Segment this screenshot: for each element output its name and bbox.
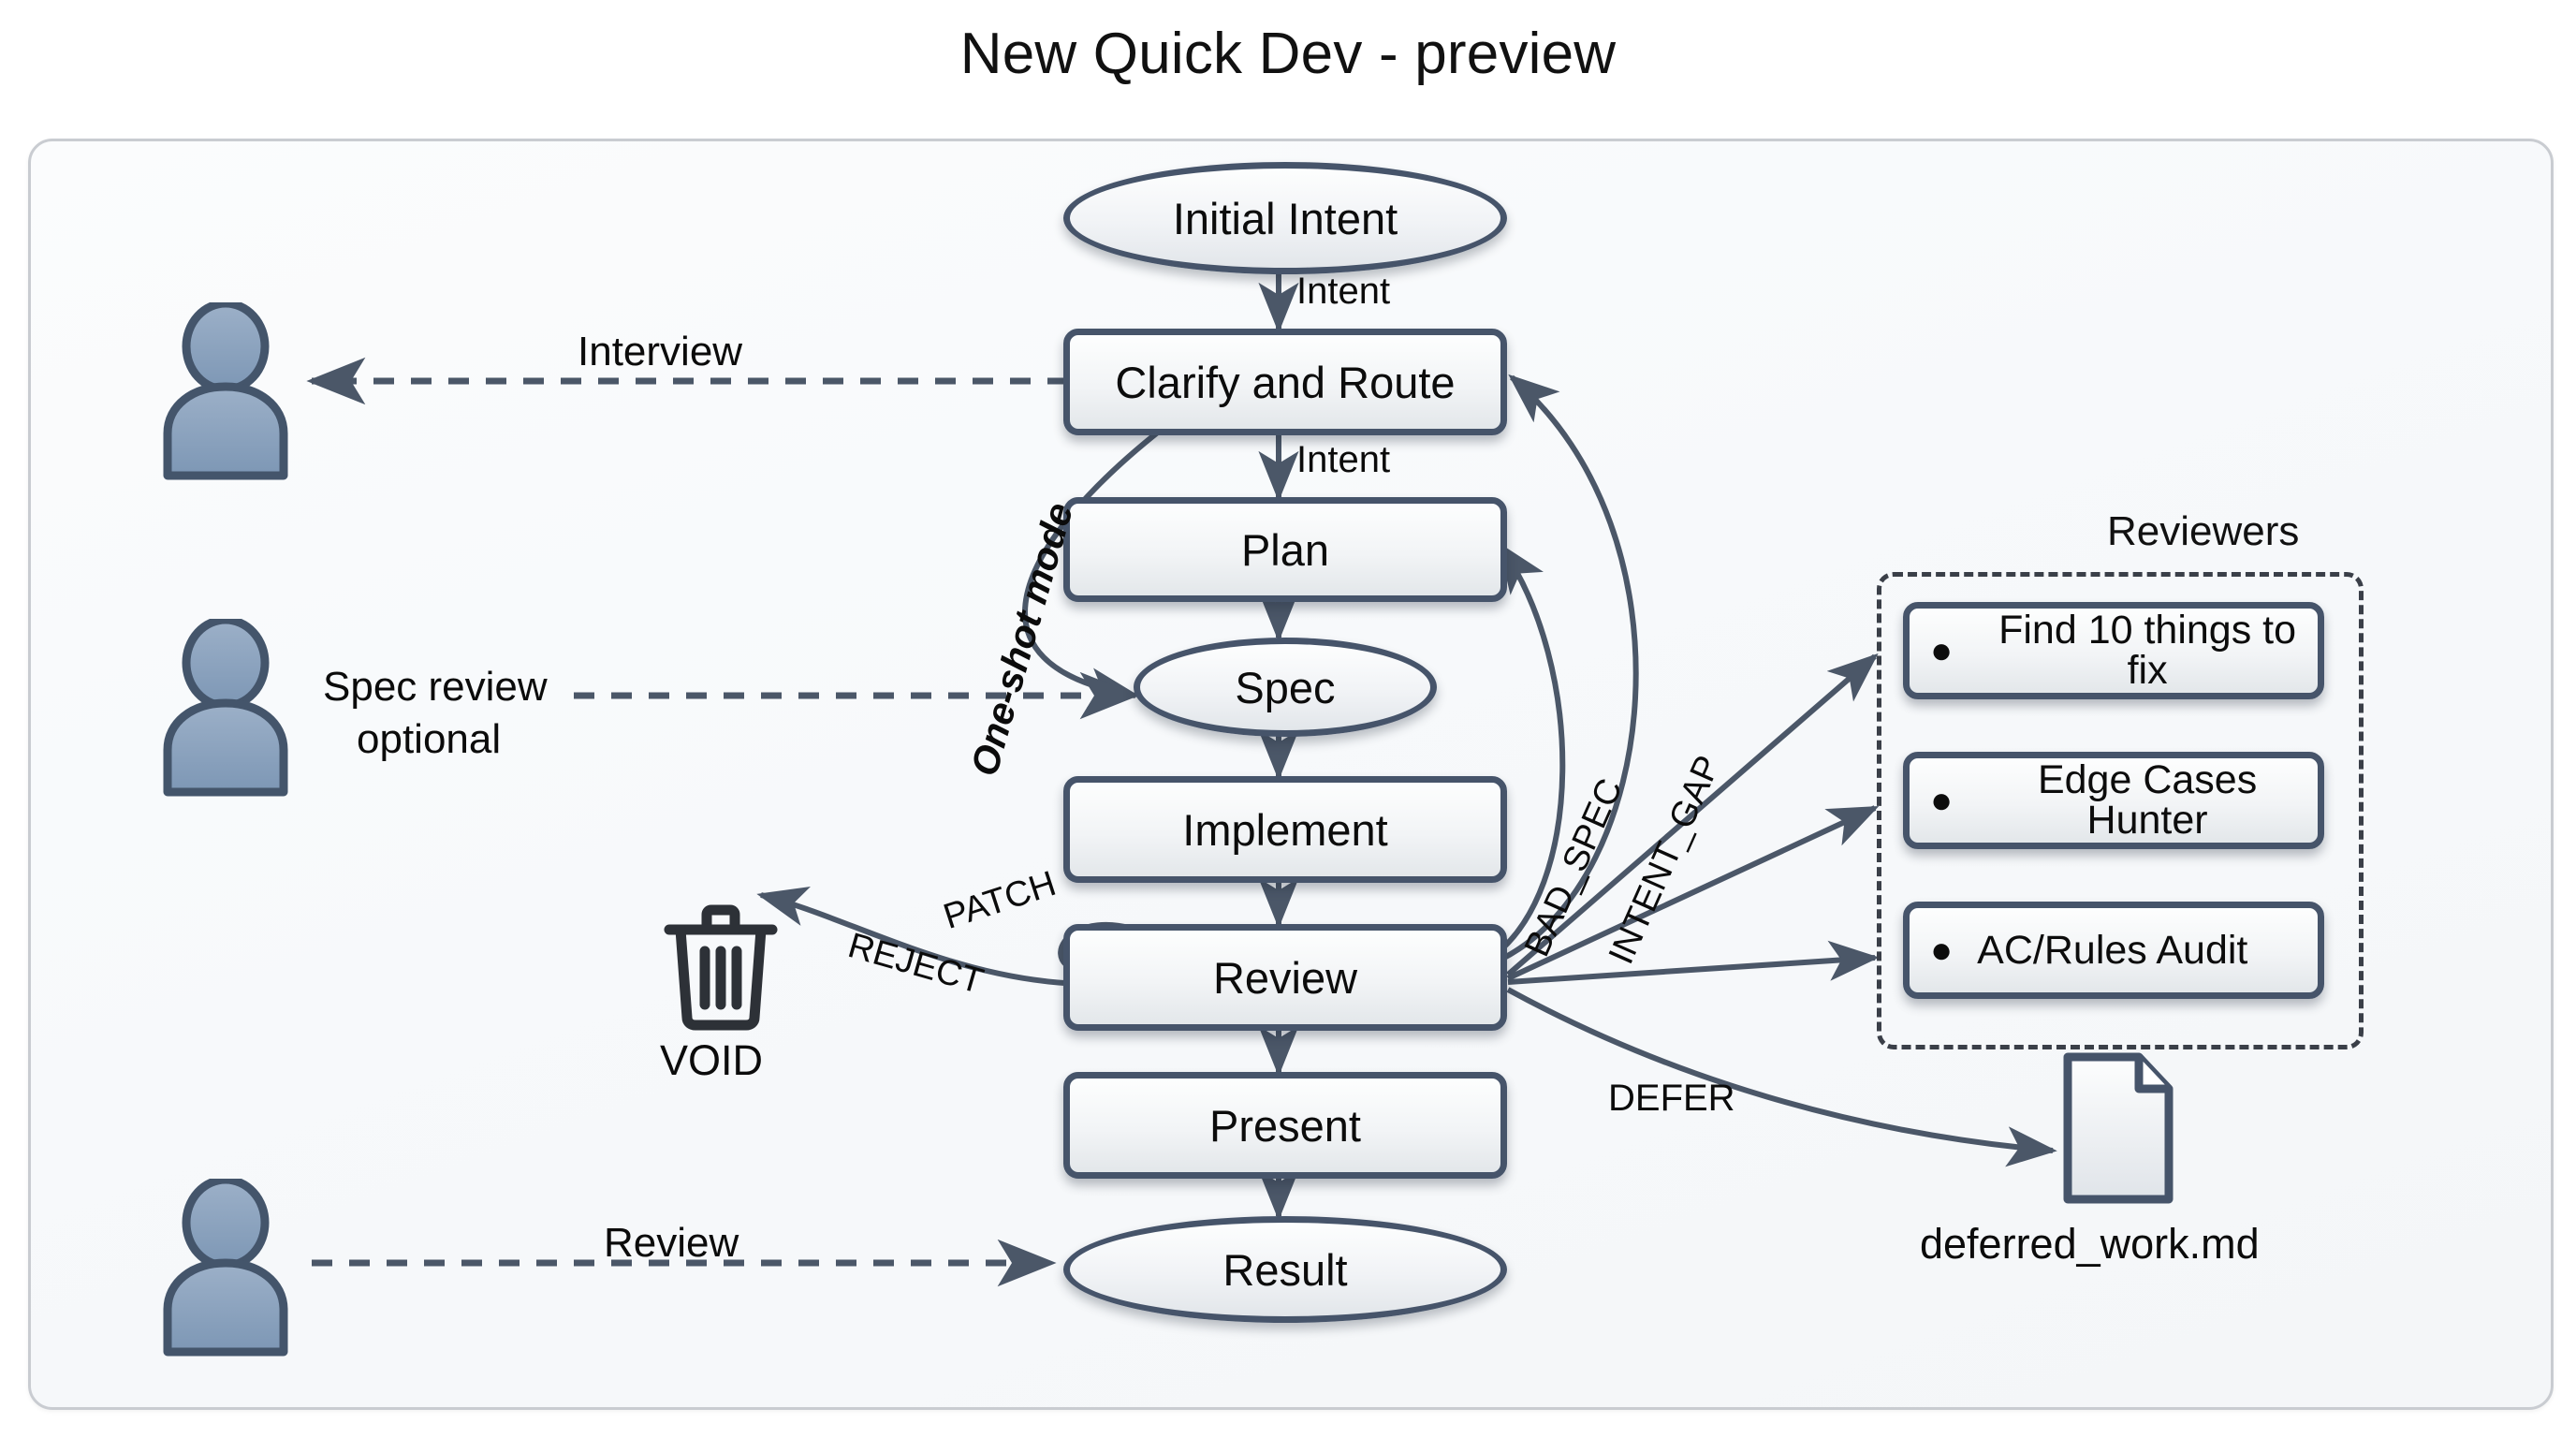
void-label: VOID bbox=[660, 1036, 763, 1085]
node-initial-intent-label: Initial Intent bbox=[1173, 197, 1398, 241]
edge-label-intent-mid: Intent bbox=[1296, 439, 1390, 481]
actor-body-icon bbox=[168, 387, 284, 476]
node-clarify-and-route-label: Clarify and Route bbox=[1115, 360, 1455, 404]
edge-label-defer: DEFER bbox=[1608, 1078, 1735, 1120]
actor-interview[interactable] bbox=[151, 302, 300, 480]
actor-head-icon bbox=[186, 303, 265, 389]
reviewer-item-find-10-things-to-fix[interactable]: ● Find 10 things to fix bbox=[1903, 602, 2324, 699]
node-plan-label: Plan bbox=[1241, 528, 1329, 572]
node-review-label: Review bbox=[1213, 956, 1357, 1000]
reviewer-item-ac-rules-audit[interactable]: ● AC/Rules Audit bbox=[1903, 902, 2324, 999]
actor-spec-review[interactable] bbox=[151, 619, 300, 797]
edge-label-spec-review-line1: Spec review bbox=[323, 664, 548, 711]
actor-head-icon bbox=[186, 1180, 265, 1266]
actor-body-icon bbox=[168, 1263, 284, 1352]
node-implement-label: Implement bbox=[1182, 808, 1387, 852]
edge-label-spec-review-line2: optional bbox=[357, 716, 501, 763]
reviewers-group-title: Reviewers bbox=[2107, 508, 2299, 555]
actor-result-review[interactable] bbox=[151, 1179, 300, 1357]
node-clarify-and-route[interactable]: Clarify and Route bbox=[1063, 329, 1507, 435]
diagram-canvas: Initial Intent Clarify and Route Plan Sp… bbox=[28, 139, 2554, 1410]
node-spec[interactable]: Spec bbox=[1134, 638, 1437, 737]
node-review[interactable]: Review bbox=[1063, 924, 1507, 1031]
node-result[interactable]: Result bbox=[1063, 1216, 1507, 1323]
deferred-file-label: deferred_work.md bbox=[1920, 1220, 2260, 1269]
actor-body-icon bbox=[168, 703, 284, 792]
trash-icon bbox=[669, 910, 772, 1025]
node-present-label: Present bbox=[1209, 1104, 1361, 1148]
void-trash-icon-wrap[interactable] bbox=[660, 900, 782, 1031]
reviewer-item-edge-cases-hunter[interactable]: ● Edge Cases Hunter bbox=[1903, 752, 2324, 849]
node-initial-intent[interactable]: Initial Intent bbox=[1063, 162, 1507, 274]
node-implement[interactable]: Implement bbox=[1063, 776, 1507, 883]
node-present[interactable]: Present bbox=[1063, 1072, 1507, 1179]
node-result-label: Result bbox=[1222, 1248, 1347, 1292]
edge-review-to-reviewer-3 bbox=[1508, 958, 1875, 982]
actor-head-icon bbox=[186, 620, 265, 706]
bullet-icon: ● bbox=[1930, 782, 1953, 819]
node-spec-label: Spec bbox=[1235, 666, 1335, 710]
reviewer-item-label: Edge Cases Hunter bbox=[1977, 760, 2318, 841]
reviewer-item-label: AC/Rules Audit bbox=[1977, 931, 2247, 971]
deferred-file-icon-wrap[interactable] bbox=[2055, 1048, 2182, 1209]
reviewer-item-label: Find 10 things to fix bbox=[1977, 610, 2318, 691]
bullet-icon: ● bbox=[1930, 932, 1953, 969]
edge-label-interview: Interview bbox=[578, 329, 742, 375]
edge-label-review-actor: Review bbox=[604, 1220, 739, 1267]
node-plan[interactable]: Plan bbox=[1063, 497, 1507, 602]
bullet-icon: ● bbox=[1930, 632, 1953, 669]
edge-label-intent-top: Intent bbox=[1296, 271, 1390, 313]
page-title: New Quick Dev - preview bbox=[0, 21, 2576, 87]
